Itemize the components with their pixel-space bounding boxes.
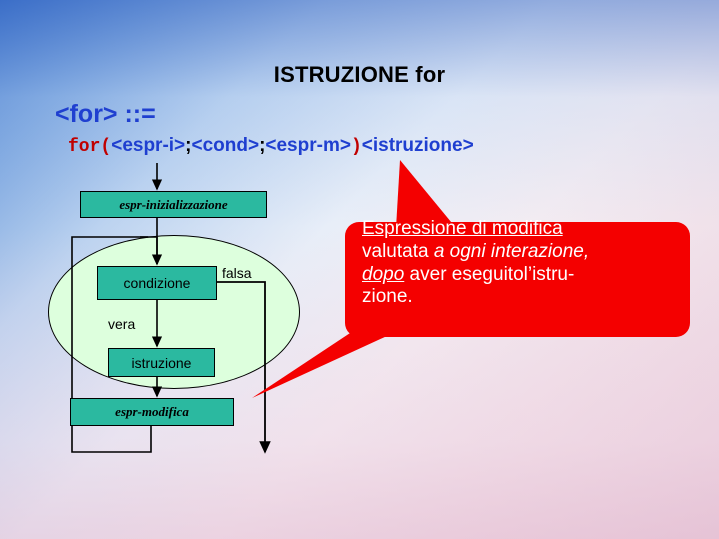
callout-line-2-italic: a ogni interazione, [434, 241, 589, 262]
callout-line-4-dot: . [407, 286, 412, 307]
callout-line-4: zione [362, 286, 407, 307]
callout-text: Espressione di modifica valutata a ogni … [362, 218, 682, 309]
callout-line-3-emphasis: dopo [362, 264, 404, 285]
callout-line-3-rest: aver eseguitol’istru- [404, 264, 574, 285]
slide: ISTRUZIONE for <for> ::= for(<espr-i>;<c… [0, 0, 719, 539]
callout-line-2-plain: valutata [362, 241, 434, 262]
callout-line-1: Espressione di modifica [362, 218, 563, 239]
